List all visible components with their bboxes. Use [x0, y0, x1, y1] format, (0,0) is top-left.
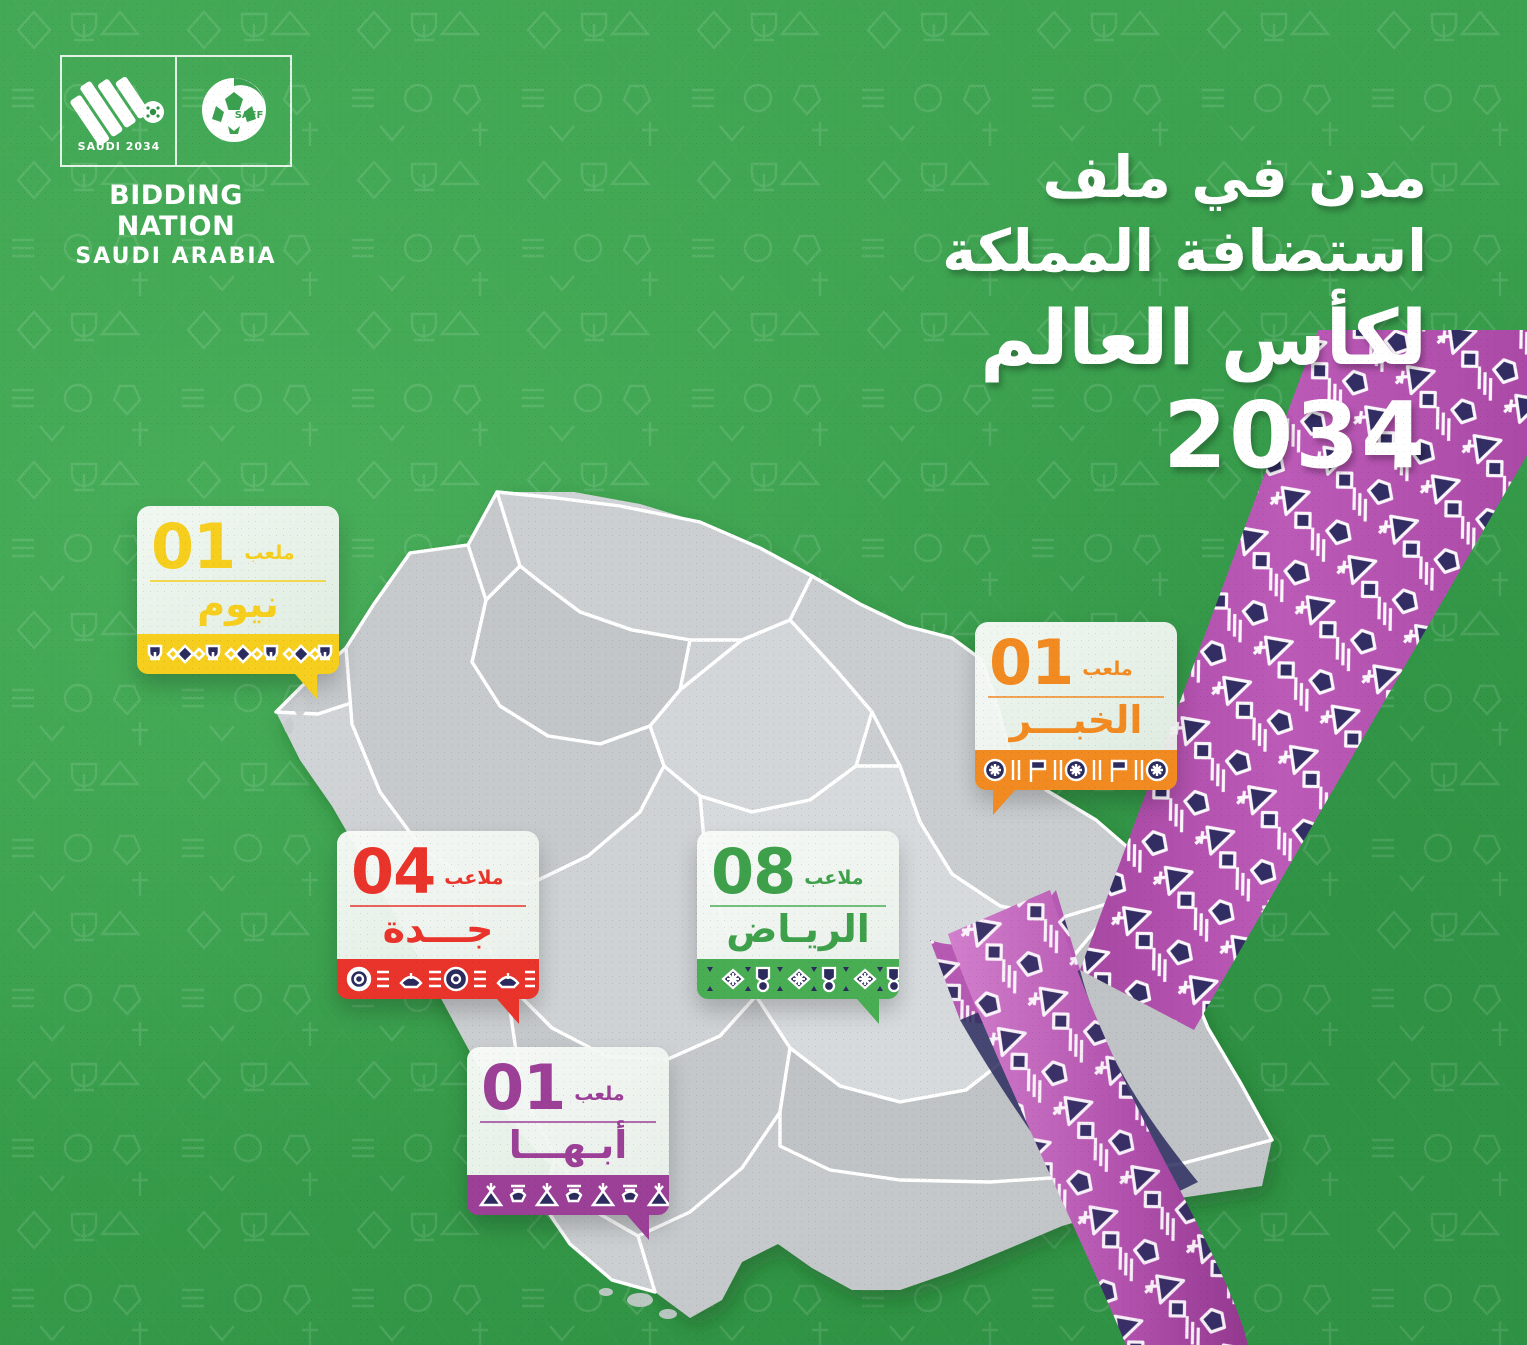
neom-unit-label: ملعب [244, 542, 294, 575]
neom-count-row: ملعب 01 [137, 506, 339, 579]
abha-unit-label: ملعب [574, 1083, 624, 1116]
headline-block: مدن في ملف استضافة المملكة لكأس العالم 2… [787, 140, 1427, 486]
saff-wordmark: SAFF [234, 110, 263, 121]
city-card-khobar[interactable]: ملعب 01 الخبـــر [975, 622, 1177, 790]
city-card-neom[interactable]: ملعب 01 نيوم [137, 506, 339, 674]
riyadh-unit-label: ملاعب [804, 867, 863, 900]
jeddah-pattern-strip [337, 959, 539, 999]
khobar-count-row: ملعب 01 [975, 622, 1177, 695]
riyadh-city-name: الريـاض [697, 907, 899, 959]
city-card-jeddah[interactable]: ملاعب 04 جـــدة [337, 831, 539, 999]
bidding-nation-logo: SAUDI 2034 SAFF BIDDING NATION SA [60, 55, 292, 269]
neom-pattern-strip [137, 634, 339, 674]
riyadh-pattern-strip [697, 959, 899, 999]
abha-pattern-strip [467, 1175, 669, 1215]
logo-line-1: BIDDING NATION [60, 180, 292, 242]
khobar-pointer [993, 790, 1015, 815]
riyadh-count-row: ملاعب 08 [697, 831, 899, 904]
jeddah-city-name: جـــدة [337, 907, 539, 959]
infographic-canvas: SAUDI 2034 SAFF BIDDING NATION SA [0, 0, 1527, 1345]
khobar-unit-label: ملعب [1082, 658, 1132, 691]
jeddah-unit-label: ملاعب [444, 867, 503, 900]
headline-line-2: استضافة المملكة [787, 214, 1427, 288]
khobar-city-name: الخبـــر [975, 698, 1177, 750]
neom-divider [150, 580, 326, 582]
abha-count: 01 [481, 1059, 565, 1116]
abha-city-name: أبـهـــا [467, 1123, 669, 1175]
ball-goal-pattern-icon [337, 959, 539, 999]
medal-star-pattern-icon [697, 959, 899, 999]
khobar-divider [988, 696, 1164, 698]
flag-ball-pattern-icon [975, 750, 1177, 790]
city-card-riyadh[interactable]: ملاعب 08 الريـاض [697, 831, 899, 999]
jeddah-divider [350, 905, 526, 907]
mountain-tent-pattern-icon [467, 1175, 669, 1215]
neom-pointer [295, 674, 317, 699]
riyadh-divider [710, 905, 886, 907]
saff-emblem: SAFF [175, 57, 290, 165]
abha-divider [480, 1121, 656, 1123]
saff-logo-icon: SAFF [190, 68, 278, 154]
khobar-pattern-strip [975, 750, 1177, 790]
jeddah-count-row: ملاعب 04 [337, 831, 539, 904]
logo-emblem-row: SAUDI 2034 SAFF [60, 55, 292, 167]
city-card-abha[interactable]: ملعب 01 أبـهـــا [467, 1047, 669, 1215]
headline-line-3: لكأس العالم [787, 292, 1427, 385]
saudi-2034-wordmark: SAUDI 2034 [77, 140, 160, 153]
riyadh-pointer [857, 999, 879, 1024]
neom-city-name: نيوم [137, 582, 339, 634]
abha-pointer [627, 1215, 649, 1240]
headline-year: 2034 [787, 385, 1427, 486]
riyadh-count: 08 [711, 843, 795, 900]
jeddah-count: 04 [351, 843, 435, 900]
headline-line-1: مدن في ملف [787, 140, 1427, 214]
abha-count-row: ملعب 01 [467, 1047, 669, 1120]
saudi-2034-emblem: SAUDI 2034 [62, 57, 175, 165]
saudi-2034-icon: SAUDI 2034 [69, 68, 169, 154]
trophy-diamond-pattern-icon [137, 634, 339, 674]
jeddah-pointer [497, 999, 519, 1024]
khobar-count: 01 [989, 634, 1073, 691]
logo-line-2: SAUDI ARABIA [60, 244, 292, 269]
neom-count: 01 [151, 518, 235, 575]
